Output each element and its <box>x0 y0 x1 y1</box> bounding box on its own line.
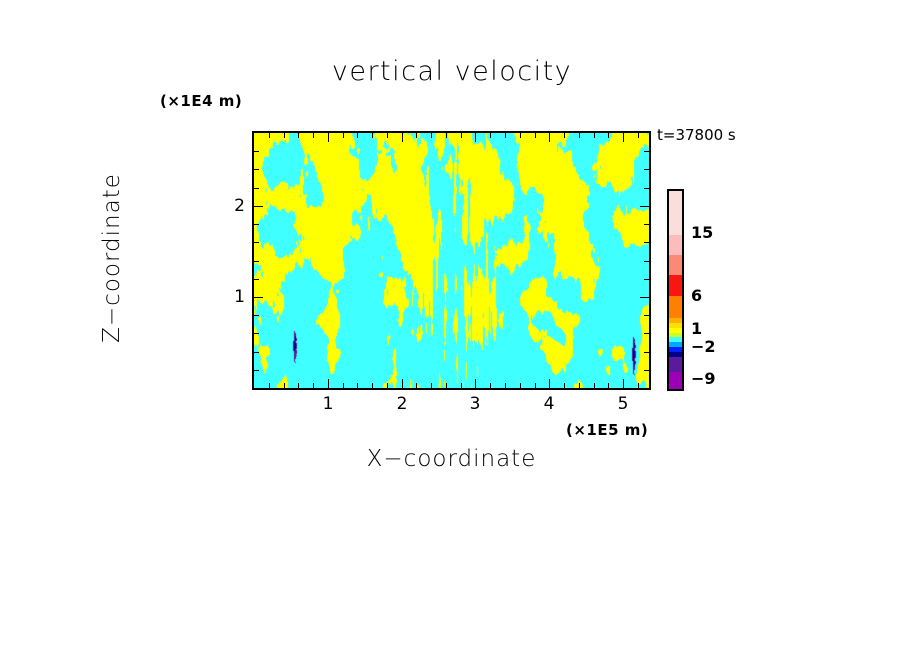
y-axis-minor-tick <box>254 261 259 262</box>
x-axis-tick-label: 4 <box>537 394 561 414</box>
x-axis-tick-label: 5 <box>611 394 635 414</box>
colorbar-band <box>669 275 682 296</box>
y-axis-tick <box>254 206 263 207</box>
x-axis-unit-label: (×1E5 m) <box>566 421 648 439</box>
y-axis-minor-tick <box>254 315 259 316</box>
x-axis-minor-tick <box>564 133 565 138</box>
y-axis-minor-tick <box>254 188 259 189</box>
y-axis-minor-tick <box>254 352 259 353</box>
y-axis-tick <box>254 297 263 298</box>
contour-plot-area <box>252 131 651 390</box>
x-axis-minor-tick <box>608 383 609 388</box>
colorbar-tick-label: −9 <box>691 369 716 388</box>
x-axis-minor-tick <box>579 383 580 388</box>
x-axis-minor-tick <box>431 133 432 138</box>
x-axis-minor-tick <box>594 133 595 138</box>
x-axis-minor-tick <box>416 383 417 388</box>
y-axis-tick-label: 1 <box>225 287 245 307</box>
x-axis-minor-tick <box>431 383 432 388</box>
page-title: vertical velocity <box>0 56 904 87</box>
x-axis-minor-tick <box>446 133 447 138</box>
x-axis-minor-tick <box>608 133 609 138</box>
x-axis-tick <box>475 133 476 142</box>
x-axis-minor-tick <box>372 383 373 388</box>
x-axis-tick <box>328 379 329 388</box>
x-axis-tick <box>475 379 476 388</box>
x-axis-minor-tick <box>269 133 270 138</box>
x-axis-minor-tick <box>387 383 388 388</box>
x-axis-minor-tick <box>387 133 388 138</box>
x-axis-minor-tick <box>638 133 639 138</box>
colorbar-tick-label: 1 <box>691 319 702 338</box>
y-axis-minor-tick <box>644 151 649 152</box>
y-axis-minor-tick <box>644 333 649 334</box>
y-axis-minor-tick <box>644 224 649 225</box>
x-axis-tick-label: 3 <box>463 394 487 414</box>
colorbar-tick-label: 15 <box>691 223 713 242</box>
x-axis-tick <box>623 379 624 388</box>
x-axis-minor-tick <box>490 133 491 138</box>
y-axis-unit-label: (×1E4 m) <box>160 92 242 110</box>
y-axis-tick <box>640 206 649 207</box>
x-axis-minor-tick <box>535 133 536 138</box>
x-axis-tick <box>549 379 550 388</box>
colorbar-tick-label: 6 <box>691 286 702 305</box>
y-axis-minor-tick <box>644 169 649 170</box>
y-axis-minor-tick <box>644 261 649 262</box>
x-axis-minor-tick <box>298 133 299 138</box>
x-axis-minor-tick <box>564 383 565 388</box>
colorbar-band <box>669 191 682 235</box>
y-axis-title: Z−coordinate <box>99 128 125 388</box>
x-axis-minor-tick <box>343 383 344 388</box>
y-axis-minor-tick <box>644 370 649 371</box>
y-axis-minor-tick <box>644 242 649 243</box>
colorbar-band <box>669 255 682 275</box>
x-axis-minor-tick <box>298 383 299 388</box>
timestamp-annotation: t=37800 s <box>657 126 736 144</box>
x-axis-minor-tick <box>284 383 285 388</box>
x-axis-minor-tick <box>357 383 358 388</box>
x-axis-minor-tick <box>579 133 580 138</box>
x-axis-minor-tick <box>357 133 358 138</box>
colorbar-band <box>669 296 682 318</box>
colorbar <box>667 189 684 391</box>
x-axis-minor-tick <box>269 383 270 388</box>
x-axis-minor-tick <box>520 133 521 138</box>
y-axis-minor-tick <box>644 352 649 353</box>
x-axis-minor-tick <box>372 133 373 138</box>
x-axis-minor-tick <box>416 133 417 138</box>
colorbar-band <box>669 389 682 391</box>
x-axis-minor-tick <box>594 383 595 388</box>
y-axis-minor-tick <box>254 370 259 371</box>
x-axis-minor-tick <box>313 133 314 138</box>
y-axis-minor-tick <box>254 169 259 170</box>
y-axis-minor-tick <box>254 242 259 243</box>
x-axis-minor-tick <box>313 383 314 388</box>
x-axis-minor-tick <box>520 383 521 388</box>
y-axis-minor-tick <box>644 188 649 189</box>
x-axis-tick-label: 1 <box>316 394 340 414</box>
y-axis-minor-tick <box>644 279 649 280</box>
y-axis-minor-tick <box>254 224 259 225</box>
x-axis-minor-tick <box>461 133 462 138</box>
x-axis-minor-tick <box>461 383 462 388</box>
colorbar-band <box>669 372 682 389</box>
x-axis-tick <box>402 133 403 142</box>
x-axis-minor-tick <box>284 133 285 138</box>
x-axis-tick <box>549 133 550 142</box>
colorbar-band <box>669 235 682 255</box>
x-axis-minor-tick <box>505 133 506 138</box>
x-axis-tick <box>402 379 403 388</box>
velocity-field-canvas <box>254 133 649 388</box>
x-axis-minor-tick <box>505 383 506 388</box>
x-axis-minor-tick <box>446 383 447 388</box>
x-axis-minor-tick <box>343 133 344 138</box>
colorbar-band <box>669 357 682 372</box>
y-axis-minor-tick <box>254 333 259 334</box>
x-axis-tick <box>328 133 329 142</box>
x-axis-tick-label: 2 <box>390 394 414 414</box>
x-axis-minor-tick <box>638 383 639 388</box>
x-axis-tick <box>623 133 624 142</box>
y-axis-minor-tick <box>254 279 259 280</box>
y-axis-tick <box>640 297 649 298</box>
y-axis-minor-tick <box>644 315 649 316</box>
x-axis-minor-tick <box>535 383 536 388</box>
colorbar-tick-label: −2 <box>691 337 716 356</box>
x-axis-title: X−coordinate <box>252 446 651 472</box>
y-axis-tick-label: 2 <box>225 196 245 216</box>
y-axis-minor-tick <box>254 151 259 152</box>
x-axis-minor-tick <box>490 383 491 388</box>
